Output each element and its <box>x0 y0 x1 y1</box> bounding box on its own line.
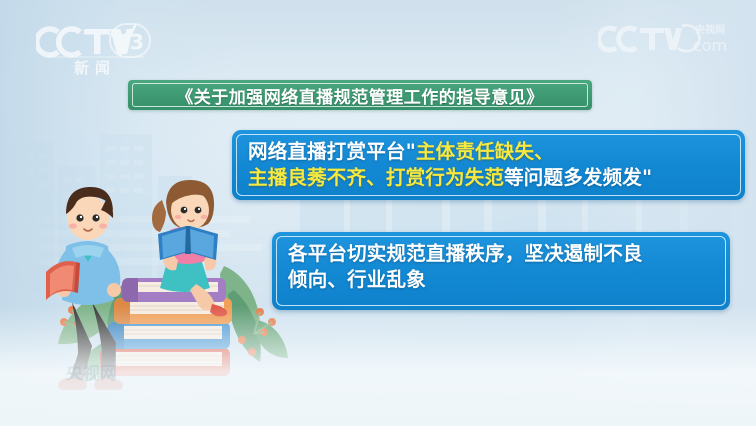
bottom-faint-watermark: 央视网 <box>66 360 196 386</box>
svg-text:央视网: 央视网 <box>695 23 725 36</box>
svg-text:com: com <box>693 36 727 55</box>
callout-1-line-2: 主播良莠不齐、打赏行为失范等问题多发频发" <box>248 165 731 191</box>
page-title: 《关于加强网络直播规范管理工作的指导意见》 <box>176 83 544 108</box>
callout-1-line2-highlight: 主播良莠不齐、打赏行为失范 <box>248 166 504 189</box>
svg-text:13: 13 <box>116 30 144 54</box>
cctv-com-watermark: 央视网 com <box>598 18 738 64</box>
svg-text:新闻: 新闻 <box>74 59 116 76</box>
callout-2-text: 各平台切实规范直播秩序，坚决遏制不良 倾向、行业乱象 <box>272 232 730 301</box>
callout-2-line-1: 各平台切实规范直播秩序，坚决遏制不良 <box>288 241 716 267</box>
cctv-13-channel-logo: 13 新闻 <box>36 20 154 76</box>
callout-1-line1-highlight: 主体责任缺失、 <box>416 140 554 163</box>
broadcast-frame: 13 新闻 央视网 com 央视网 《关于 <box>0 0 756 426</box>
callout-1-line1-white: 网络直播打赏平台" <box>248 140 416 163</box>
callout-2-line-2: 倾向、行业乱象 <box>288 267 716 293</box>
callout-1-line-1: 网络直播打赏平台"主体责任缺失、 <box>248 139 731 165</box>
callout-1-text: 网络直播打赏平台"主体责任缺失、 主播良莠不齐、打赏行为失范等问题多发频发" <box>232 130 745 199</box>
callout-box-1: 网络直播打赏平台"主体责任缺失、 主播良莠不齐、打赏行为失范等问题多发频发" <box>232 130 745 200</box>
document-title-banner: 《关于加强网络直播规范管理工作的指导意见》 <box>128 80 592 110</box>
callout-1-line2-white: 等问题多发频发" <box>504 166 652 189</box>
callout-box-2: 各平台切实规范直播秩序，坚决遏制不良 倾向、行业乱象 <box>272 232 730 310</box>
svg-text:央视网: 央视网 <box>66 363 117 384</box>
